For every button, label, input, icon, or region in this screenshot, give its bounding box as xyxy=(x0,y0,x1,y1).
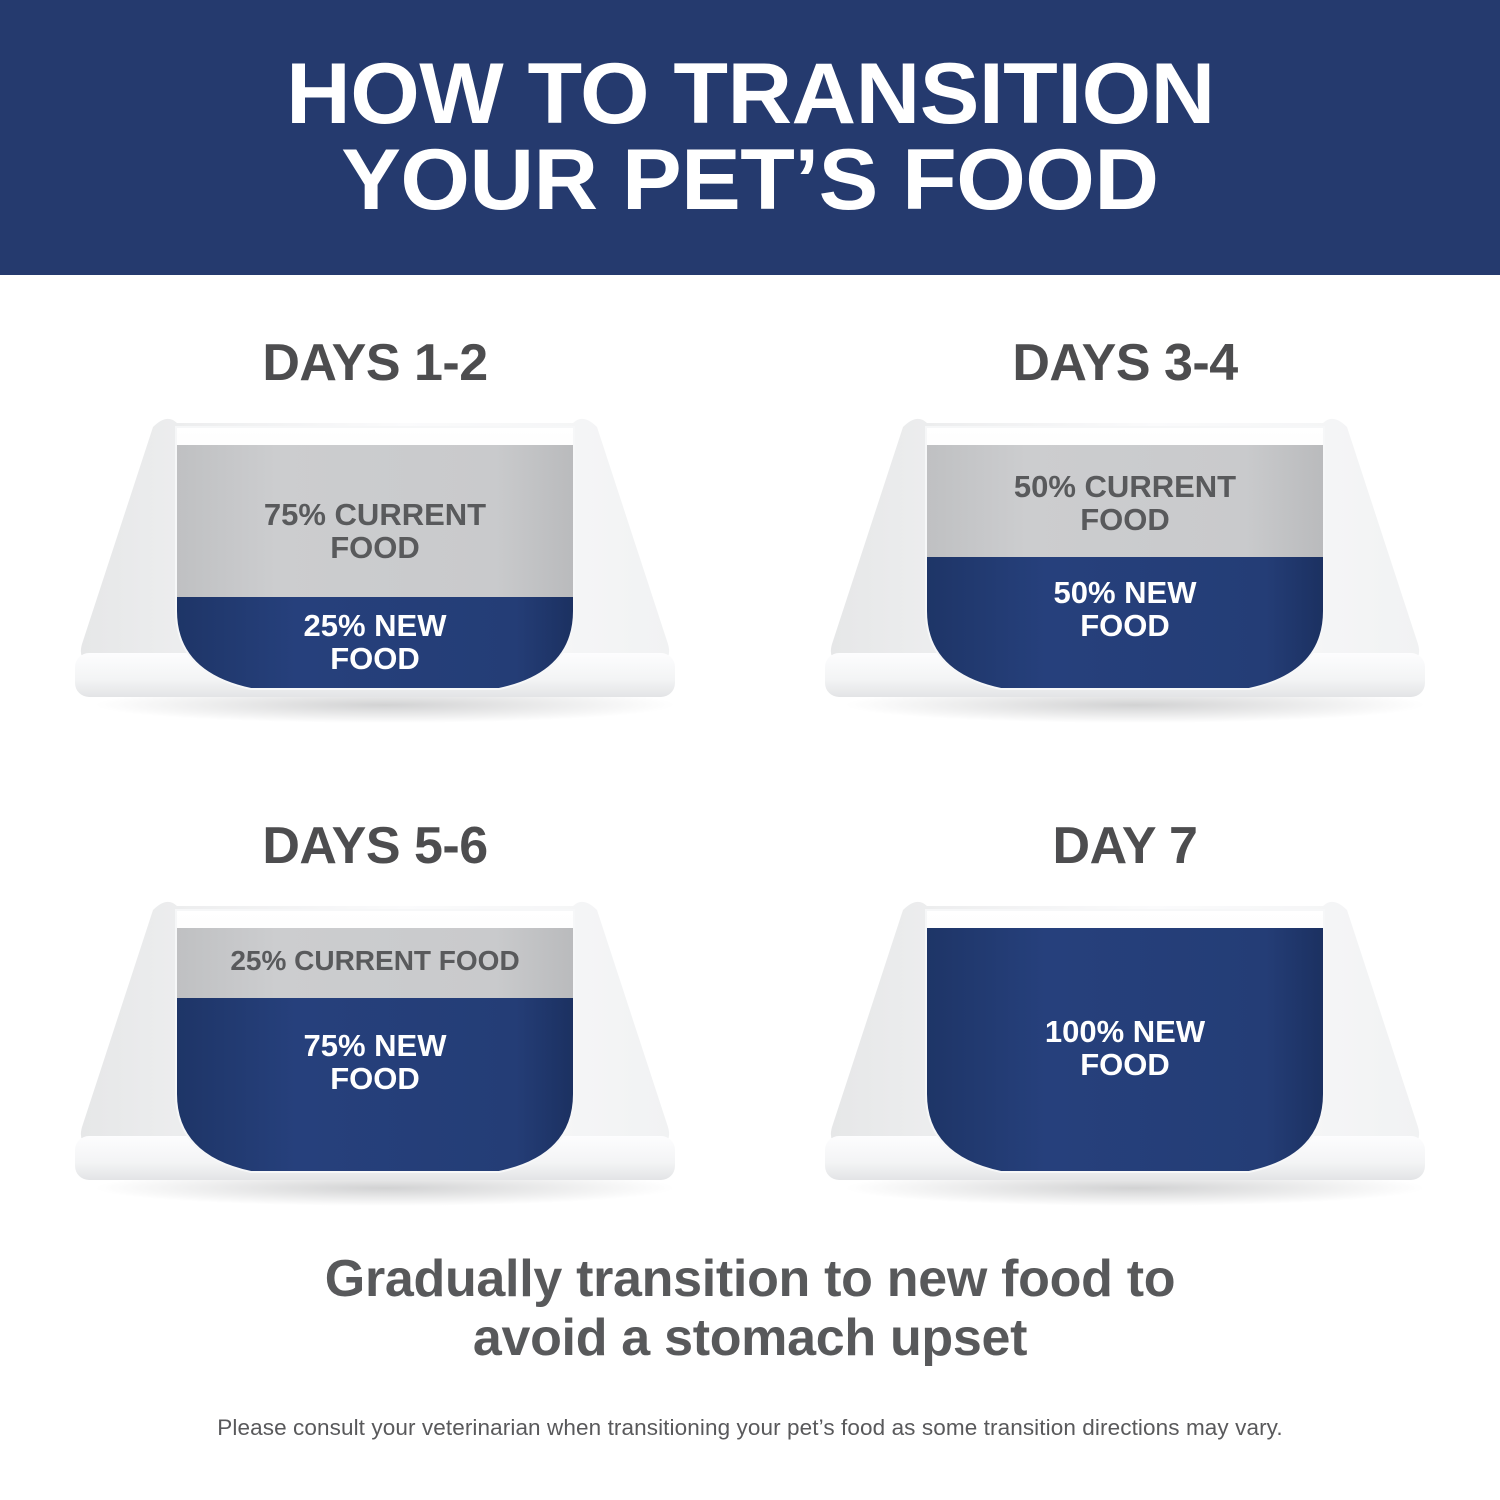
new-food-fill xyxy=(926,557,1326,697)
footer: Gradually transition to new food to avoi… xyxy=(0,1250,1500,1441)
footer-headline-line-1: Gradually transition to new food to xyxy=(0,1250,1500,1309)
bowl-food-fill xyxy=(176,928,576,1180)
transition-step-days-5-6: DAYS 5-6 xyxy=(0,758,750,1240)
bowl-svg xyxy=(45,888,705,1218)
bowl-food-fill xyxy=(926,928,1326,1180)
bowl-food-fill xyxy=(926,445,1326,697)
infographic-page: HOW TO TRANSITION YOUR PET’S FOOD DAYS 1… xyxy=(0,0,1500,1500)
transition-step-day-7: DAY 7 xyxy=(750,758,1500,1240)
step-day-label: DAYS 1-2 xyxy=(0,333,750,393)
bowl-graphic-day-7: 100% NEW FOOD xyxy=(795,888,1455,1218)
transition-step-days-1-2: DAYS 1-2 xyxy=(0,275,750,757)
bowl-graphic-days-1-2: 75% CURRENT FOOD 25% NEW FOOD xyxy=(45,405,705,735)
bowl-graphic-days-5-6: 25% CURRENT FOOD 75% NEW FOOD xyxy=(45,888,705,1218)
header-title-line-1: HOW TO TRANSITION xyxy=(286,52,1215,137)
new-food-fill xyxy=(176,998,576,1180)
new-food-fill xyxy=(176,597,576,697)
header-banner: HOW TO TRANSITION YOUR PET’S FOOD xyxy=(0,0,1500,275)
bowl-svg xyxy=(45,405,705,735)
bowl-graphic-days-3-4: 50% CURRENT FOOD 50% NEW FOOD xyxy=(795,405,1455,735)
step-day-label: DAYS 5-6 xyxy=(0,816,750,876)
step-day-label: DAY 7 xyxy=(750,816,1500,876)
bowl-food-fill xyxy=(176,445,576,697)
bowl-svg xyxy=(795,888,1455,1218)
footer-disclaimer: Please consult your veterinarian when tr… xyxy=(0,1415,1500,1441)
footer-headline-line-2: avoid a stomach upset xyxy=(0,1309,1500,1368)
transition-step-days-3-4: DAYS 3-4 xyxy=(750,275,1500,757)
header-title-line-2: YOUR PET’S FOOD xyxy=(341,138,1158,223)
bowl-svg xyxy=(795,405,1455,735)
transition-steps-grid: DAYS 1-2 xyxy=(0,275,1500,1240)
step-day-label: DAYS 3-4 xyxy=(750,333,1500,393)
new-food-fill xyxy=(926,928,1326,1180)
